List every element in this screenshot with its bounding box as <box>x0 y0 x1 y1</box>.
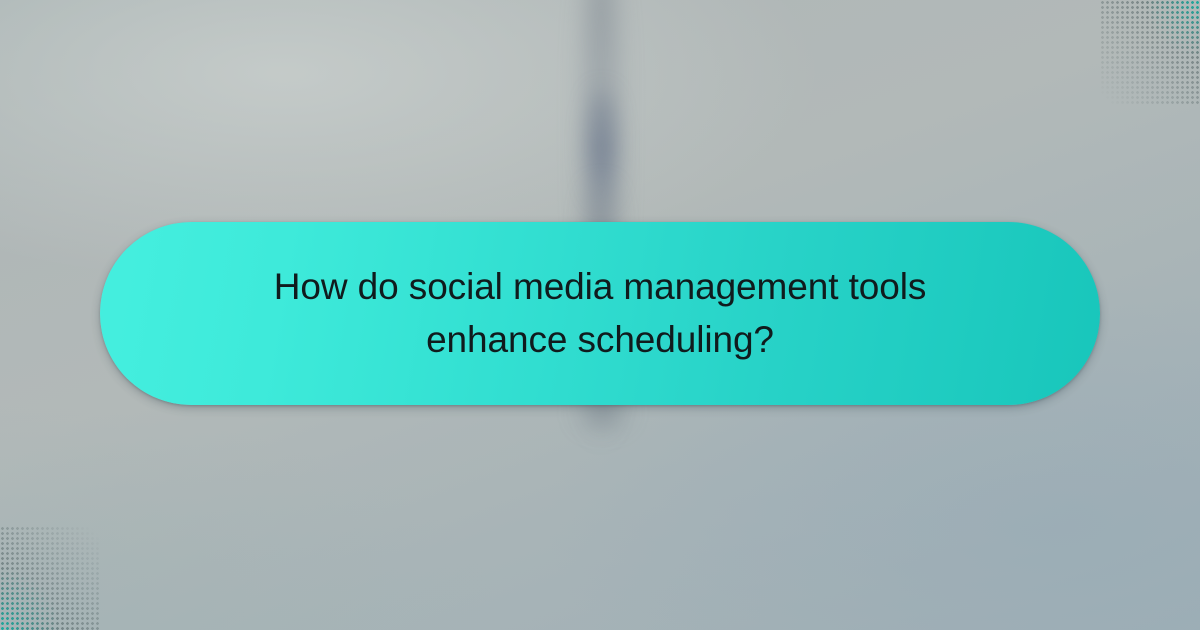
background-blur-shape-head <box>589 90 615 200</box>
dot-grid-top-right-accent <box>1100 0 1200 104</box>
poster-canvas: How do social media management tools enh… <box>0 0 1200 630</box>
headline-text: How do social media management tools enh… <box>274 261 926 366</box>
headline-pill: How do social media management tools enh… <box>100 222 1100 405</box>
dot-grid-bottom-left-accent <box>0 526 100 630</box>
